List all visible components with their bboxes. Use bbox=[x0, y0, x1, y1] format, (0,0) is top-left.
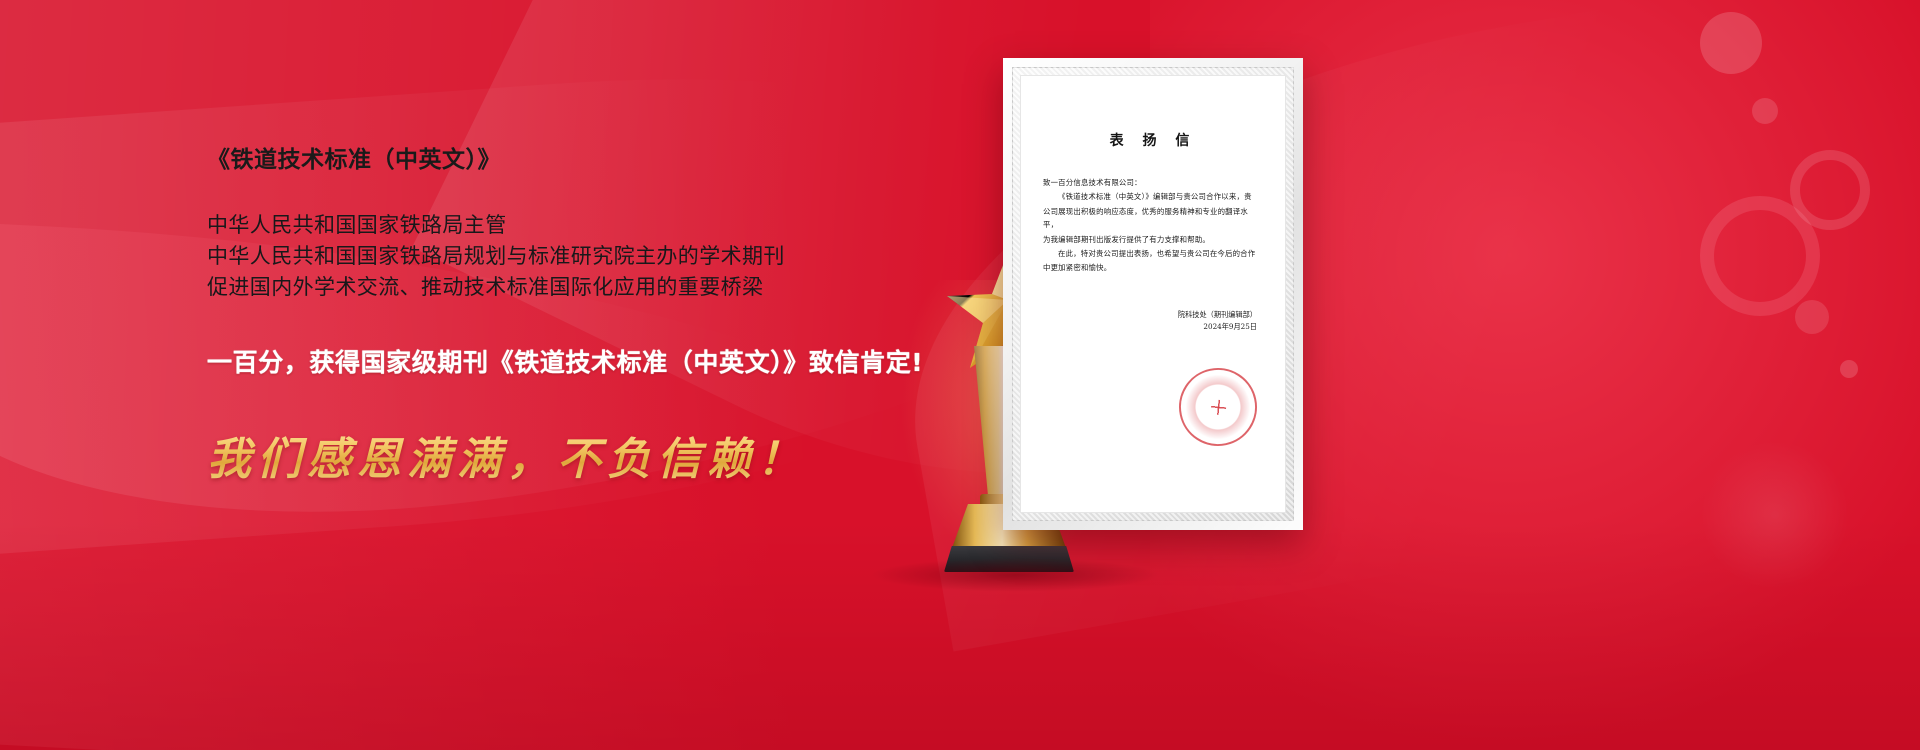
certificate-signature: 院科技处（期刊编辑部） 2024年9月25日 bbox=[1043, 309, 1263, 333]
certificate-paragraph: 为我编辑部期刊出版发行提供了有力支撑和帮助。 bbox=[1043, 233, 1263, 246]
seal-ring bbox=[1174, 363, 1262, 451]
certificate-paper: 表 扬 信 致一百分信息技术有限公司： 《铁道技术标准（中英文）》编辑部与贵公司… bbox=[1020, 75, 1286, 513]
certificate-paragraph: 《铁道技术标准（中英文）》编辑部与贵公司合作以来，贵 bbox=[1043, 190, 1263, 203]
certificate-paragraph: 在此，特对贵公司提出表扬，也希望与贵公司在今后的合作 bbox=[1043, 247, 1263, 260]
certificate-frame: 表 扬 信 致一百分信息技术有限公司： 《铁道技术标准（中英文）》编辑部与贵公司… bbox=[1003, 58, 1303, 530]
certificate-title: 表 扬 信 bbox=[1043, 130, 1263, 150]
bokeh-glow-icon bbox=[1700, 440, 1850, 590]
bokeh-ring-icon bbox=[1790, 150, 1870, 230]
bokeh-circle-icon bbox=[1700, 12, 1762, 74]
signature-date: 2024年9月25日 bbox=[1043, 321, 1257, 333]
certificate-paragraph: 中更加紧密和愉快。 bbox=[1043, 261, 1263, 274]
banner-stage: 《铁道技术标准（中英文）》 中华人民共和国国家铁路局主管 中华人民共和国国家铁路… bbox=[0, 0, 1920, 750]
certificate-salutation: 致一百分信息技术有限公司： bbox=[1043, 176, 1263, 189]
bokeh-circle-icon bbox=[1840, 360, 1858, 378]
trophy-shadow bbox=[870, 558, 1160, 592]
bokeh-circle-icon bbox=[1752, 98, 1778, 124]
bokeh-circle-icon bbox=[1795, 300, 1829, 334]
certificate-paragraph: 公司展现出积极的响应态度，优秀的服务精神和专业的翻译水平， bbox=[1043, 205, 1263, 232]
journal-title: 《铁道技术标准（中英文）》 bbox=[207, 140, 1067, 174]
certificate-inner-frame: 表 扬 信 致一百分信息技术有限公司： 《铁道技术标准（中英文）》编辑部与贵公司… bbox=[1012, 67, 1294, 521]
description-line: 中华人民共和国国家铁路局主管 bbox=[207, 210, 1067, 241]
bokeh-ring-icon bbox=[1700, 196, 1820, 316]
signature-org: 院科技处（期刊编辑部） bbox=[1043, 309, 1257, 321]
red-seal-stamp-icon bbox=[1172, 361, 1265, 454]
